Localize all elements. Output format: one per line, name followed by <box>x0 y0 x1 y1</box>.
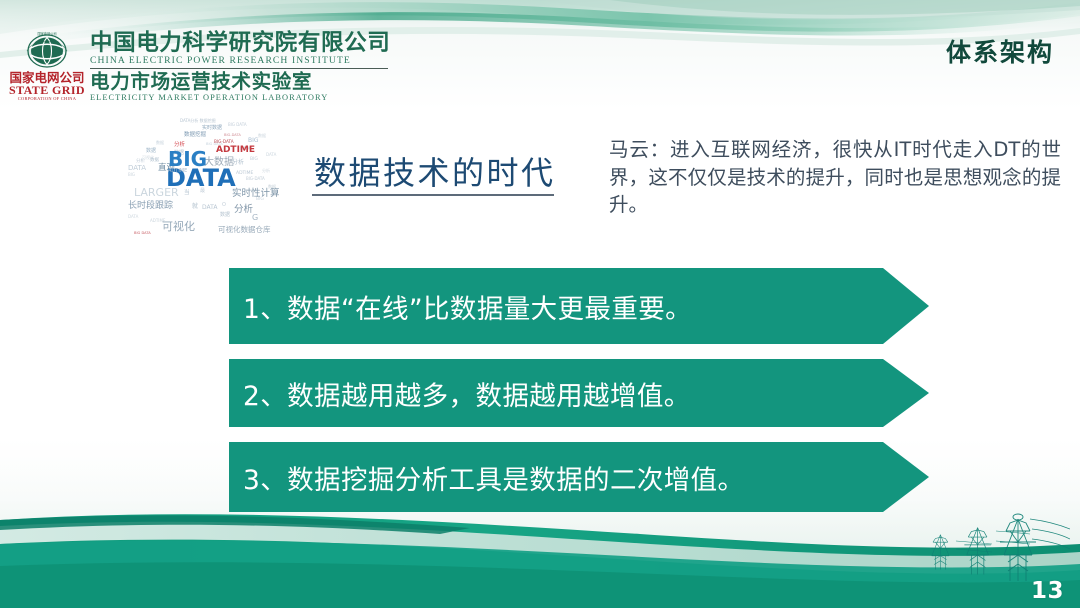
big-data-word-cloud: DATA分析 数据挖掘 实时数据 BIG DATA 数据挖掘 BIG-DATA … <box>128 112 328 237</box>
page-title: 数据技术的时代 <box>314 148 556 194</box>
arrow-banner-1[interactable]: 1、数据“在线”比数据量大更最重要。 <box>229 268 929 344</box>
svg-text:可视化: 可视化 <box>142 154 154 160</box>
svg-text:DATA分析 数据挖掘: DATA分析 数据挖掘 <box>180 117 216 123</box>
svg-text:DATA: DATA <box>202 204 218 211</box>
state-grid-logo: 国家电网公司 国家电网公司 STATE GRID CORPORATION OF … <box>8 30 86 102</box>
arrow-banner-1-label: 1、数据“在线”比数据量大更最重要。 <box>229 287 692 326</box>
arrow-banner-2-label: 2、数据越用越多，数据越用越增值。 <box>229 374 691 413</box>
svg-text:国家电网公司: 国家电网公司 <box>37 31 56 36</box>
svg-text:数据: 数据 <box>258 132 266 138</box>
svg-text:可视化: 可视化 <box>162 219 195 233</box>
section-label: 体系架构 <box>946 33 1054 69</box>
state-grid-brand-en: STATE GRID <box>9 84 85 97</box>
arrow-banner-2[interactable]: 2、数据越用越多，数据越用越增值。 <box>229 359 929 427</box>
svg-text:数据: 数据 <box>246 225 254 231</box>
svg-text:就: 就 <box>192 202 198 210</box>
svg-text:ADTIME: ADTIME <box>168 168 187 174</box>
svg-text:DATA: DATA <box>266 152 277 157</box>
org-name-cn-secondary: 电力市场运营技术实验室 <box>90 71 390 92</box>
org-name-en-primary: CHINA ELECTRIC POWER RESEARCH INSTITUTE <box>90 55 390 67</box>
state-grid-brand-sub: CORPORATION OF CHINA <box>18 97 76 102</box>
svg-text:ADTIME: ADTIME <box>216 145 255 155</box>
svg-text:可视化数据仓库: 可视化数据仓库 <box>218 224 271 234</box>
svg-text:分析: 分析 <box>234 203 254 215</box>
svg-text:BIG-DATA: BIG-DATA <box>214 139 234 144</box>
organization-names: 中国电力科学研究院有限公司 CHINA ELECTRIC POWER RESEA… <box>90 30 390 103</box>
svg-text:实时数据: 实时数据 <box>202 124 222 131</box>
svg-text:G: G <box>252 213 258 222</box>
page-number: 13 <box>1031 578 1064 604</box>
quote-text: 马云：进入互联网经济，很快从IT时代走入DT的世界，这不仅仅是技术的提升，同时也… <box>609 136 1061 219</box>
svg-text:BIG: BIG <box>250 156 258 162</box>
svg-text:BIG DATA: BIG DATA <box>134 231 151 235</box>
svg-text:BIG: BIG <box>256 196 264 202</box>
svg-text:数据挖掘: 数据挖掘 <box>184 130 207 138</box>
state-grid-globe-icon: 国家电网公司 <box>19 30 75 72</box>
svg-text:分析: 分析 <box>262 167 270 173</box>
slide-canvas: 国家电网公司 国家电网公司 STATE GRID CORPORATION OF … <box>0 0 1080 608</box>
svg-text:BIG: BIG <box>248 137 259 144</box>
svg-text:O: O <box>222 202 226 208</box>
svg-text:LARGER: LARGER <box>134 186 179 199</box>
brand-lockup: 国家电网公司 国家电网公司 STATE GRID CORPORATION OF … <box>8 30 390 103</box>
svg-text:BIG-DATA: BIG-DATA <box>224 133 241 137</box>
svg-text:BIG-DATA: BIG-DATA <box>246 176 265 181</box>
svg-text:数据: 数据 <box>156 139 164 145</box>
svg-text:长时段跟踪: 长时段跟踪 <box>128 199 173 211</box>
slide-header: 国家电网公司 国家电网公司 STATE GRID CORPORATION OF … <box>0 0 1080 110</box>
svg-text:数据: 数据 <box>220 211 230 218</box>
svg-text:BIG: BIG <box>128 172 135 177</box>
svg-text:DATA: DATA <box>128 164 146 172</box>
svg-text:最: 最 <box>200 187 205 194</box>
org-name-cn-primary: 中国电力科学研究院有限公司 <box>90 31 390 55</box>
svg-text:DATA: DATA <box>128 214 139 219</box>
svg-text:当: 当 <box>184 188 190 196</box>
arrow-banner-3[interactable]: 3、数据挖掘分析工具是数据的二次增值。 <box>229 442 929 512</box>
org-divider <box>90 68 388 69</box>
arrow-banner-list: 1、数据“在线”比数据量大更最重要。 2、数据越用越多，数据越用越增值。 3、数… <box>229 268 929 512</box>
org-name-en-secondary: ELECTRICITY MARKET OPERATION LABORATORY <box>90 93 390 104</box>
svg-text:BIG DATA: BIG DATA <box>228 122 247 127</box>
arrow-banner-3-label: 3、数据挖掘分析工具是数据的二次增值。 <box>229 458 744 497</box>
svg-text:数据: 数据 <box>268 183 276 189</box>
page-title-underline <box>312 194 554 196</box>
svg-text:数据: 数据 <box>146 147 156 154</box>
